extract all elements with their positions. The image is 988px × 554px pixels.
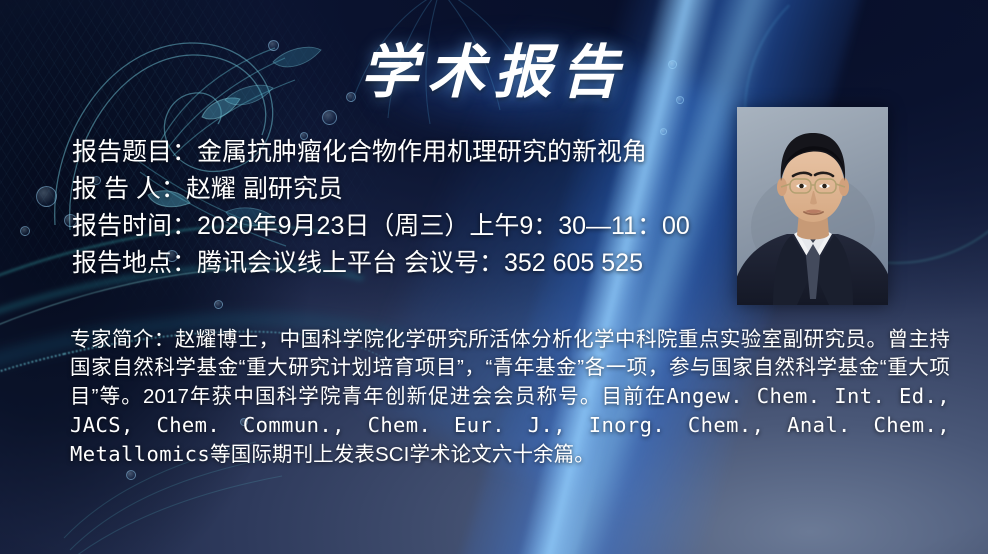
info-line-speaker: 报 告 人：赵耀 副研究员 xyxy=(72,171,732,208)
info-value-speaker: 赵耀 副研究员 xyxy=(186,175,343,203)
info-value-time: 2020年9月23日（周三）上午9：30—11：00 xyxy=(197,212,690,240)
info-line-topic: 报告题目：金属抗肿瘤化合物作用机理研究的新视角 xyxy=(72,134,732,171)
bio-label: 专家简介： xyxy=(70,328,175,351)
info-label-time: 报告时间： xyxy=(72,212,197,240)
lecture-info-block: 报告题目：金属抗肿瘤化合物作用机理研究的新视角 报 告 人：赵耀 副研究员 报告… xyxy=(72,134,732,282)
bio-text-part2: 等国际期刊上发表SCI学术论文六十余篇。 xyxy=(210,443,595,466)
info-value-location: 腾讯会议线上平台 会议号：352 605 525 xyxy=(197,249,643,277)
academic-lecture-poster: 学术报告 报告题目：金属抗肿瘤化合物作用机理研究的新视角 报 告 人：赵耀 副研… xyxy=(0,0,988,554)
info-label-topic: 报告题目： xyxy=(72,138,197,166)
info-value-topic: 金属抗肿瘤化合物作用机理研究的新视角 xyxy=(197,138,647,166)
speaker-photo xyxy=(737,107,888,305)
info-label-location: 报告地点： xyxy=(72,249,197,277)
page-title: 学术报告 xyxy=(0,44,988,102)
info-line-time: 报告时间：2020年9月23日（周三）上午9：30—11：00 xyxy=(72,208,732,245)
info-label-speaker: 报 告 人： xyxy=(72,175,186,203)
info-line-location: 报告地点：腾讯会议线上平台 会议号：352 605 525 xyxy=(72,245,732,282)
speaker-bio: 专家简介：赵耀博士，中国科学院化学研究所活体分析化学中科院重点实验室副研究员。曾… xyxy=(70,326,950,469)
